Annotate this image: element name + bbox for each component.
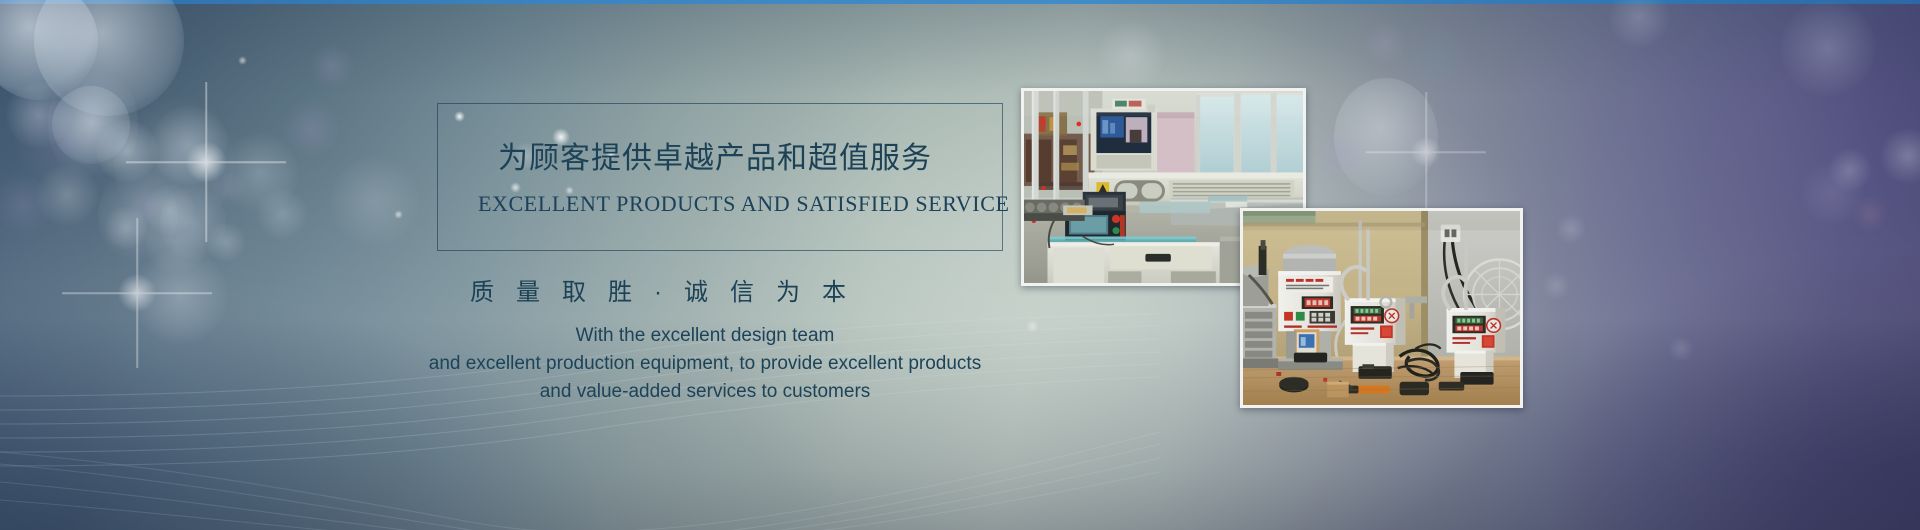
headline-frame-border: [437, 103, 1003, 251]
description-line: With the excellent design team: [355, 322, 1055, 350]
page-title-chinese: 为顾客提供卓越产品和超值服务: [498, 133, 932, 177]
description-paragraph: With the excellent design team and excel…: [355, 322, 1055, 406]
description-line: and excellent production equipment, to p…: [355, 350, 1055, 378]
slogan-chinese: 质量取胜·诚信为本: [470, 272, 868, 307]
top-accent-rule: [0, 0, 1920, 4]
terminal-crimping-machines-photo: [1240, 208, 1523, 408]
promotional-banner: 为顾客提供卓越产品和超值服务 EXCELLENT PRODUCTS AND SA…: [0, 0, 1920, 530]
description-line: and value-added services to customers: [355, 378, 1055, 406]
page-subtitle-english: EXCELLENT PRODUCTS AND SATISFIED SERVICE: [478, 191, 1010, 217]
